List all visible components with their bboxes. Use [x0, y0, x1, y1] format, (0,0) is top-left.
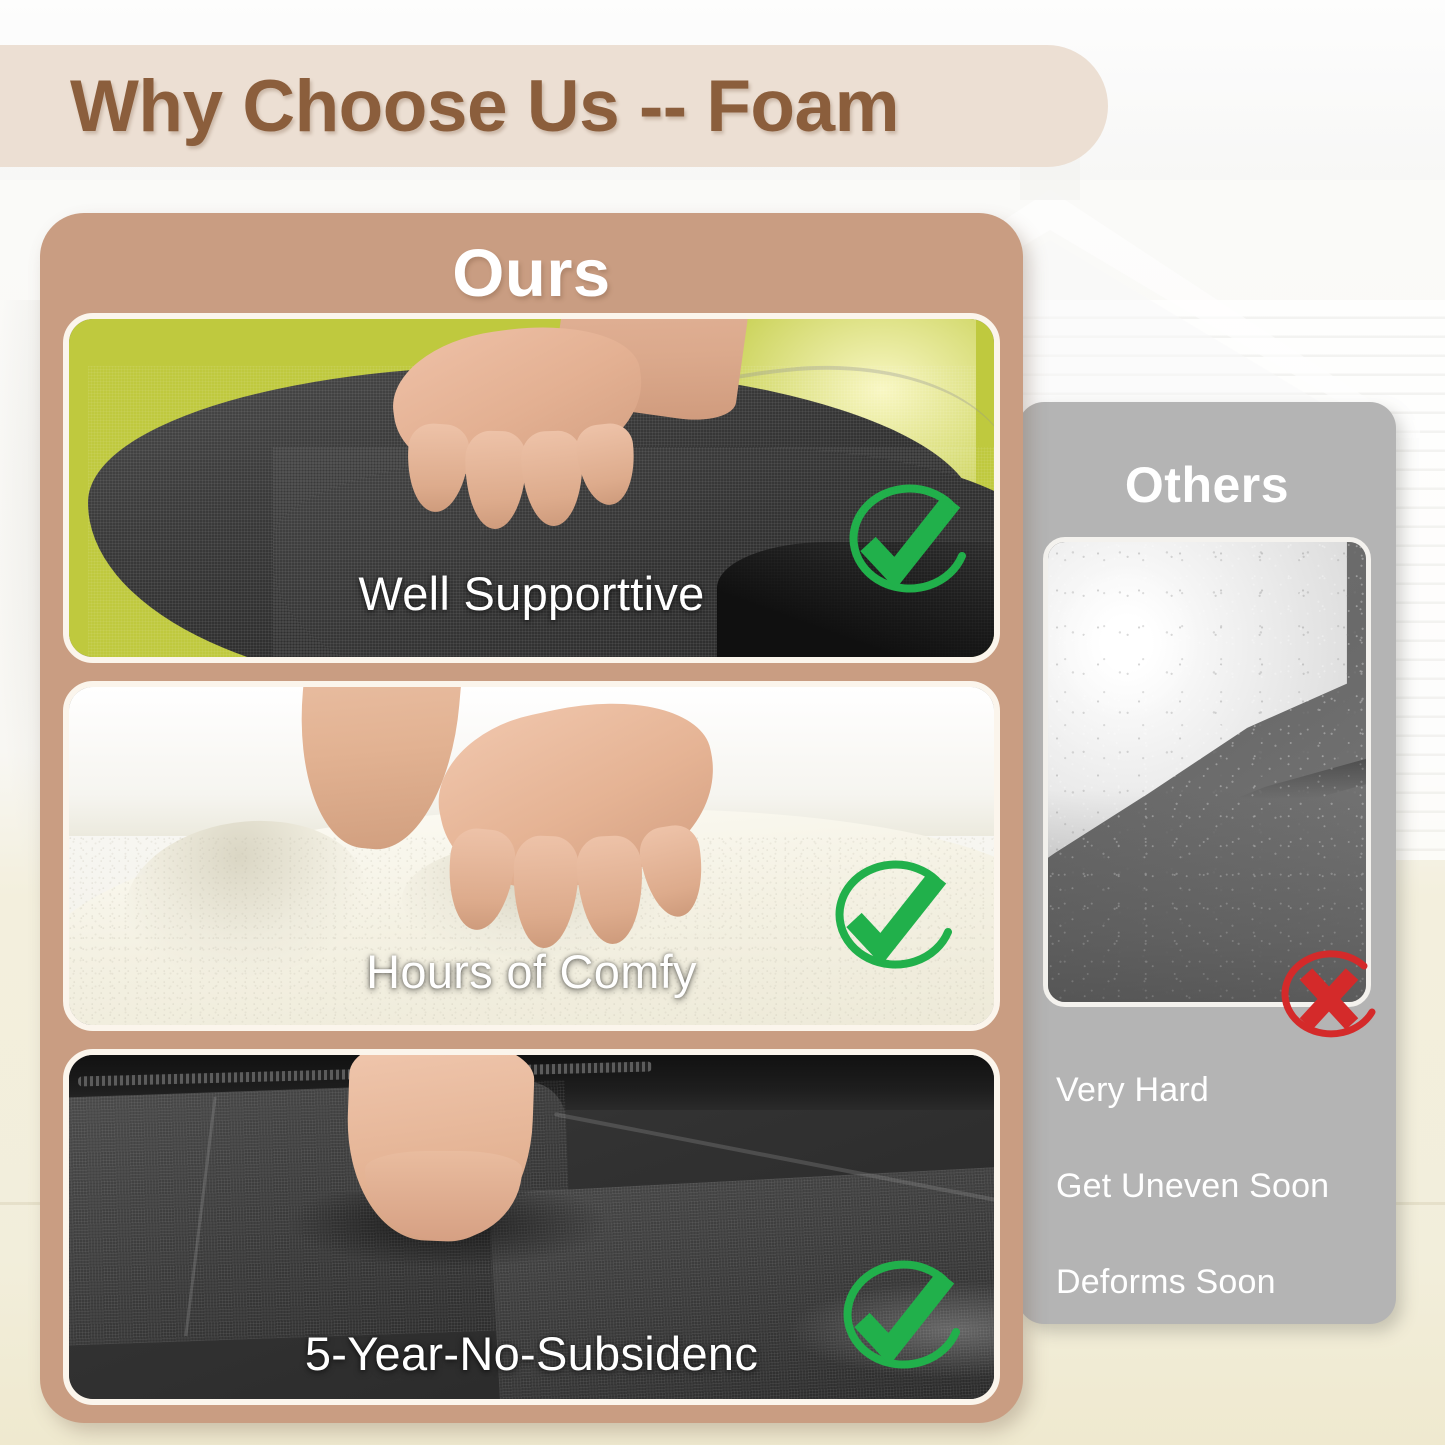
- list-item: Very Hard: [1018, 1042, 1396, 1138]
- red-cross-icon: [1264, 942, 1390, 1054]
- page-title: Why Choose Us -- Foam: [70, 65, 899, 148]
- list-item: Get Uneven Soon: [1018, 1138, 1396, 1234]
- others-photo: [1043, 537, 1371, 1007]
- ours-card-2: Hours of Comfy: [63, 681, 1000, 1031]
- green-check-icon: [818, 852, 968, 987]
- others-title: Others: [1018, 456, 1396, 514]
- list-item: Deforms Soon: [1018, 1234, 1396, 1330]
- ours-card-1: Well Supporttive: [63, 313, 1000, 663]
- green-check-icon: [832, 476, 982, 611]
- ours-panel: Ours Well Supporttive: [40, 213, 1023, 1423]
- others-bullet-list: Very Hard Get Uneven Soon Deforms Soon: [1018, 1042, 1396, 1330]
- ours-title: Ours: [40, 235, 1023, 312]
- title-banner: Why Choose Us -- Foam: [0, 45, 1108, 167]
- ours-card-3: 5-Year-No-Subsidenc: [63, 1049, 1000, 1405]
- others-panel: Others Very Hard Get Uneven Soon Deforms…: [1018, 402, 1396, 1324]
- infographic-canvas: Why Choose Us -- Foam Others Very Hard G…: [0, 0, 1445, 1445]
- green-check-icon: [826, 1252, 976, 1387]
